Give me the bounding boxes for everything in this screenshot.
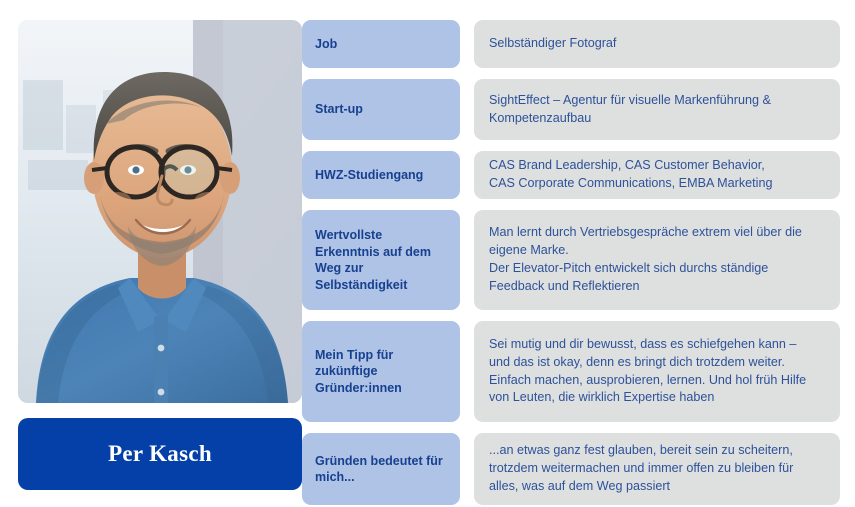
profile-row: Mein Tipp für zukünftige Gründer:innen S… (302, 321, 840, 422)
row-content-gruenden: ...an etwas ganz fest glauben, bereit se… (474, 433, 840, 505)
row-content-erkenntnis: Man lernt durch Vertriebsgespräche extre… (474, 210, 840, 310)
row-label-studiengang: HWZ-Studiengang (302, 151, 460, 199)
row-label-text: Gründen bedeutet für mich... (315, 453, 447, 486)
person-name: Per Kasch (108, 441, 212, 467)
portrait-photo (18, 20, 302, 403)
founder-profile-card: Per Kasch Job Selbständiger Fotograf Sta… (0, 0, 855, 507)
person-name-banner: Per Kasch (18, 418, 302, 490)
row-content-text: Selbständiger Fotograf (489, 35, 616, 53)
row-label-gruenden: Gründen bedeutet für mich... (302, 433, 460, 505)
row-content-text: Sei mutig und dir bewusst, dass es schie… (489, 336, 806, 408)
row-label-job: Job (302, 20, 460, 68)
row-label-text: Mein Tipp für zukünftige Gründer:innen (315, 347, 447, 397)
profile-row: Job Selbständiger Fotograf (302, 20, 840, 68)
row-content-startup: SightEffect – Agentur für visuelle Marke… (474, 79, 840, 140)
profile-row: Start-up SightEffect – Agentur für visue… (302, 79, 840, 140)
row-content-text: CAS Brand Leadership, CAS Customer Behav… (489, 157, 772, 193)
row-content-studiengang: CAS Brand Leadership, CAS Customer Behav… (474, 151, 840, 199)
profile-detail-rows: Job Selbständiger Fotograf Start-up Sigh… (302, 20, 840, 505)
profile-left-column: Per Kasch (18, 20, 302, 490)
row-label-text: HWZ-Studiengang (315, 167, 423, 184)
row-label-text: Job (315, 36, 337, 53)
row-content-tipp: Sei mutig und dir bewusst, dass es schie… (474, 321, 840, 422)
row-content-text: SightEffect – Agentur für visuelle Marke… (489, 92, 771, 128)
row-content-job: Selbständiger Fotograf (474, 20, 840, 68)
row-label-startup: Start-up (302, 79, 460, 140)
row-label-erkenntnis: Wertvollste Erkenntnis auf dem Weg zur S… (302, 210, 460, 310)
profile-row: Gründen bedeutet für mich... ...an etwas… (302, 433, 840, 505)
profile-row: Wertvollste Erkenntnis auf dem Weg zur S… (302, 210, 840, 310)
portrait-illustration (18, 20, 302, 403)
row-content-text: Man lernt durch Vertriebsgespräche extre… (489, 224, 802, 296)
row-label-text: Wertvollste Erkenntnis auf dem Weg zur S… (315, 227, 447, 293)
row-label-tipp: Mein Tipp für zukünftige Gründer:innen (302, 321, 460, 422)
row-content-text: ...an etwas ganz fest glauben, bereit se… (489, 442, 793, 496)
profile-row: HWZ-Studiengang CAS Brand Leadership, CA… (302, 151, 840, 199)
row-label-text: Start-up (315, 101, 363, 118)
